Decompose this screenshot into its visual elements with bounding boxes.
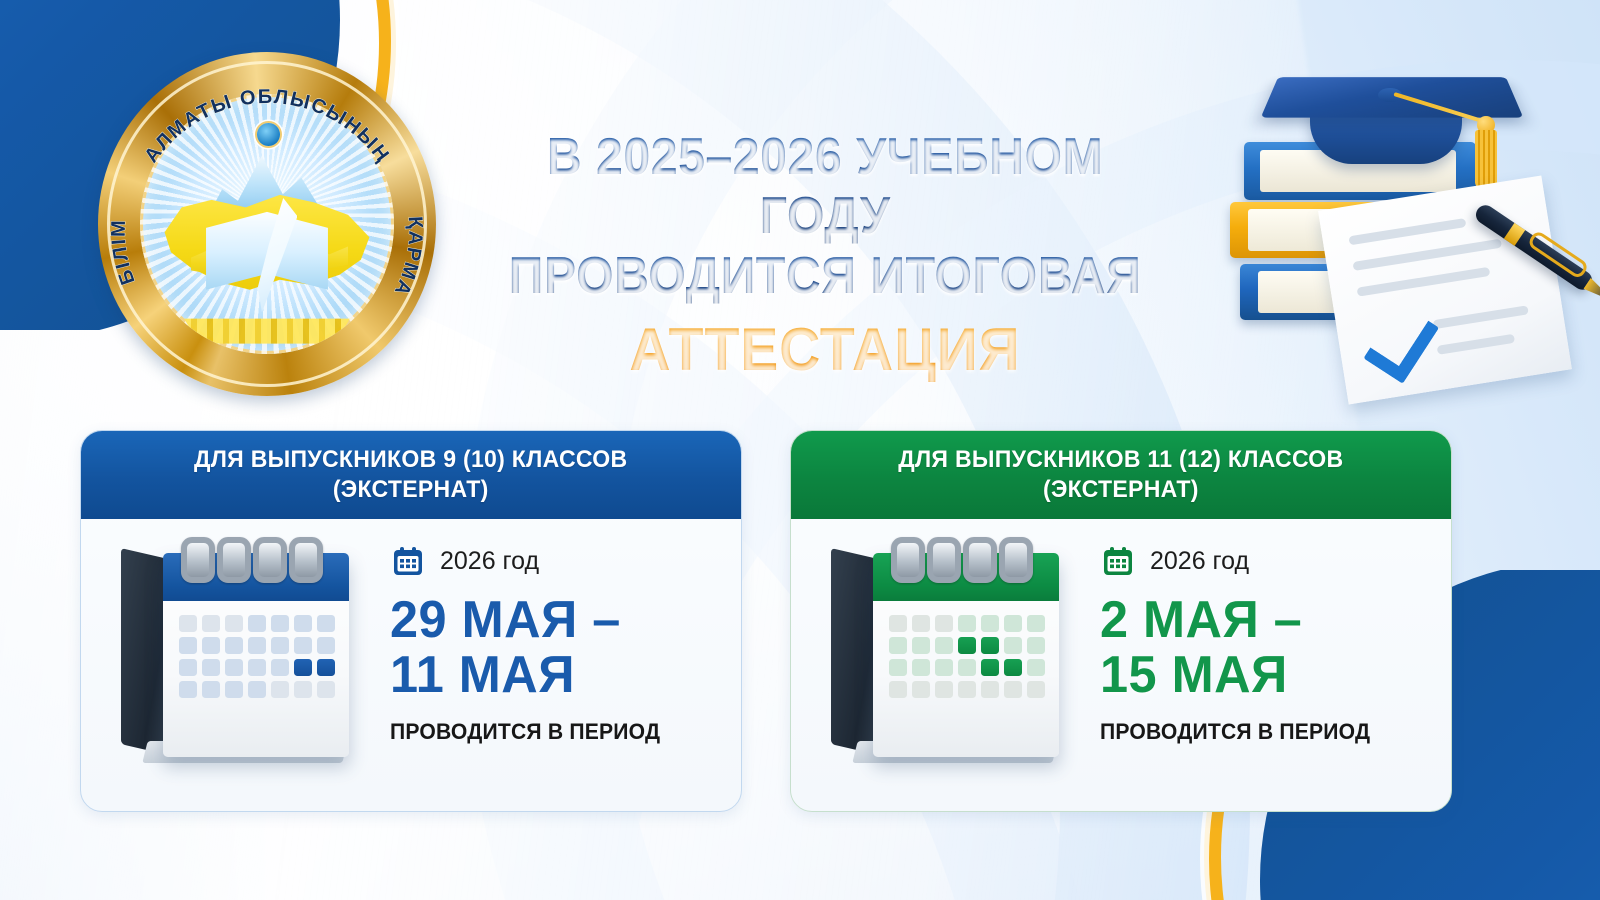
checkmark-icon bbox=[1363, 302, 1439, 384]
infographic-poster: АЛМАТЫ ОБЛЫСЫНЫҢ БІЛІМ БАСҚАРМАСЫ В 2025… bbox=[0, 0, 1600, 900]
year-row: 2026 год bbox=[390, 543, 719, 579]
page-title: В 2025–2026 УЧЕБНОМ ГОДУ ПРОВОДИТСЯ ИТОГ… bbox=[455, 128, 1195, 386]
emblem-arc-right-text: БАСҚАРМАСЫ bbox=[87, 35, 426, 300]
graduation-illustration bbox=[1182, 42, 1582, 432]
calendar-ring bbox=[181, 537, 215, 583]
date-line-2: 11 МАЯ bbox=[390, 648, 709, 703]
card-body-grade-11-12: 2026 год 2 МАЯ – 15 МАЯ ПРОВОДИТСЯ В ПЕР… bbox=[791, 519, 1451, 811]
calendar-ring bbox=[289, 537, 323, 583]
title-line-3-highlight: АТТЕСТАЦИЯ bbox=[474, 314, 1177, 386]
calendar-ring bbox=[253, 537, 287, 583]
emblem-arc-top-text: АЛМАТЫ ОБЛЫСЫНЫҢ bbox=[140, 86, 394, 167]
calendar-ring bbox=[891, 537, 925, 583]
year-row: 2026 год bbox=[1100, 543, 1429, 579]
calendar-day-grid bbox=[889, 615, 1045, 698]
date-line-1: 29 МАЯ – bbox=[390, 591, 621, 649]
card-body-grade-9-10: 2026 год 29 МАЯ – 11 МАЯ ПРОВОДИТСЯ В ПЕ… bbox=[81, 519, 741, 811]
calendar-ring bbox=[217, 537, 251, 583]
period-note: ПРОВОДИТСЯ В ПЕРИОД bbox=[390, 719, 706, 745]
emblem: АЛМАТЫ ОБЛЫСЫНЫҢ БІЛІМ БАСҚАРМАСЫ bbox=[98, 52, 436, 396]
card-header-grade-11-12: ДЛЯ ВЫПУСКНИКОВ 11 (12) КЛАССОВ (ЭКСТЕРН… bbox=[791, 431, 1451, 519]
period-note: ПРОВОДИТСЯ В ПЕРИОД bbox=[1100, 719, 1416, 745]
calendar-day-grid bbox=[179, 615, 335, 698]
calendar-icon bbox=[390, 543, 426, 579]
title-line-2: ПРОВОДИТСЯ ИТОГОВАЯ bbox=[481, 247, 1169, 306]
calendar-icon bbox=[1100, 543, 1136, 579]
calendar-illustration-green bbox=[791, 519, 1096, 811]
calendar-illustration-blue bbox=[81, 519, 386, 811]
calendar-front-page bbox=[873, 553, 1059, 757]
card-header-line-2: (ЭКСТЕРНАТ) bbox=[1043, 476, 1199, 503]
card-header-grade-9-10: ДЛЯ ВЫПУСКНИКОВ 9 (10) КЛАССОВ (ЭКСТЕРНА… bbox=[81, 431, 741, 519]
card-info-grade-11-12: 2026 год 2 МАЯ – 15 МАЯ ПРОВОДИТСЯ В ПЕР… bbox=[1096, 519, 1451, 811]
card-grade-9-10: ДЛЯ ВЫПУСКНИКОВ 9 (10) КЛАССОВ (ЭКСТЕРНА… bbox=[80, 430, 742, 812]
date-range: 29 МАЯ – 11 МАЯ bbox=[390, 593, 709, 703]
card-header-line-1: ДЛЯ ВЫПУСКНИКОВ 9 (10) КЛАССОВ bbox=[194, 446, 627, 473]
card-header-line-2: (ЭКСТЕРНАТ) bbox=[333, 476, 489, 503]
calendar-ring bbox=[927, 537, 961, 583]
date-line-2: 15 МАЯ bbox=[1100, 648, 1419, 703]
tassel-fringe-icon bbox=[1475, 130, 1497, 188]
date-line-1: 2 МАЯ – bbox=[1100, 591, 1302, 649]
checklist-paper-icon bbox=[1318, 176, 1572, 405]
year-label: 2026 год bbox=[440, 547, 539, 576]
date-range: 2 МАЯ – 15 МАЯ bbox=[1100, 593, 1419, 703]
card-header-line-1: ДЛЯ ВЫПУСКНИКОВ 11 (12) КЛАССОВ bbox=[898, 446, 1343, 473]
calendar-ring bbox=[999, 537, 1033, 583]
title-line-1: В 2025–2026 УЧЕБНОМ ГОДУ bbox=[481, 128, 1169, 247]
card-info-grade-9-10: 2026 год 29 МАЯ – 11 МАЯ ПРОВОДИТСЯ В ПЕ… bbox=[386, 519, 741, 811]
card-grade-11-12: ДЛЯ ВЫПУСКНИКОВ 11 (12) КЛАССОВ (ЭКСТЕРН… bbox=[790, 430, 1452, 812]
emblem-arc-text: АЛМАТЫ ОБЛЫСЫНЫҢ БІЛІМ БАСҚАРМАСЫ bbox=[98, 52, 436, 396]
emblem-arc-left-text: БІЛІМ bbox=[108, 219, 140, 288]
year-label: 2026 год bbox=[1150, 547, 1249, 576]
calendar-front-page bbox=[163, 553, 349, 757]
calendar-ring bbox=[963, 537, 997, 583]
